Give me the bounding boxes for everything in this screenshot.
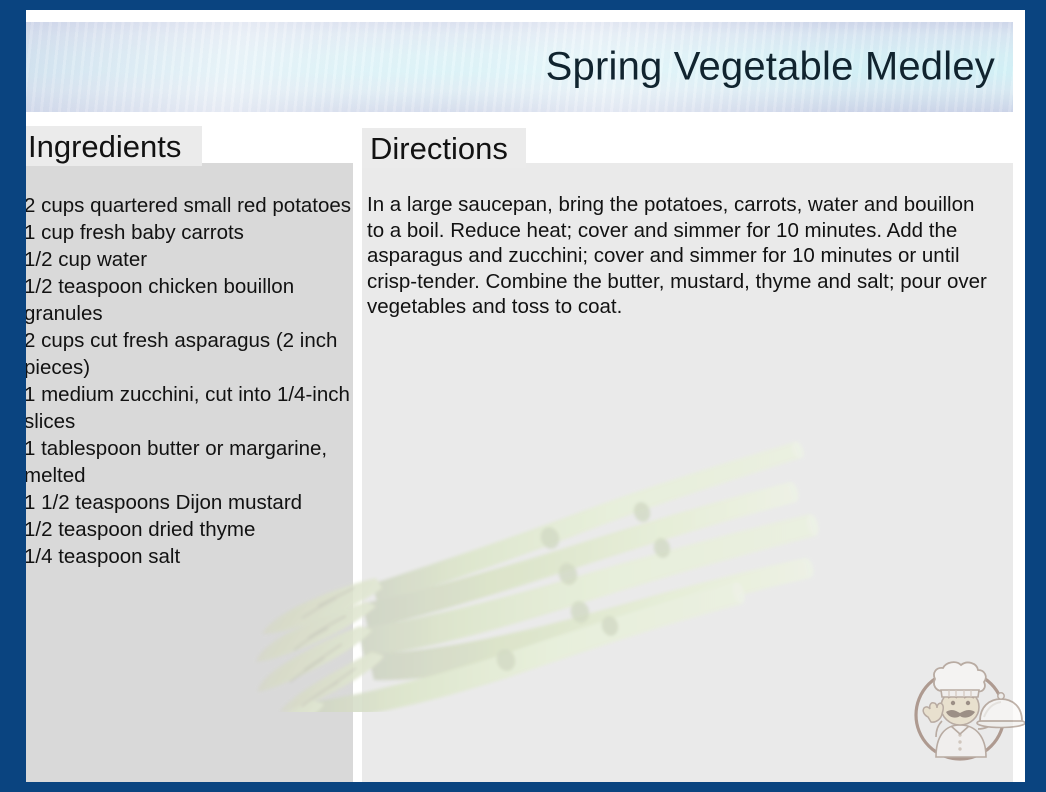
list-item: 2 cups quartered small red potatoes bbox=[24, 192, 356, 219]
directions-section-header: Directions bbox=[362, 128, 526, 168]
ingredients-heading-label: Ingredients bbox=[28, 131, 181, 162]
list-item: 1/4 teaspoon salt bbox=[24, 543, 356, 570]
directions-text: In a large saucepan, bring the potatoes,… bbox=[367, 192, 990, 320]
recipe-card: Spring Vegetable Medley Ingredients Dire… bbox=[0, 0, 1046, 792]
frame-border-top bbox=[0, 0, 1046, 10]
frame-border-bottom bbox=[0, 782, 1046, 792]
directions-heading-label: Directions bbox=[370, 133, 508, 164]
page-title: Spring Vegetable Medley bbox=[546, 45, 995, 90]
list-item: 1 1/2 teaspoons Dijon mustard bbox=[24, 489, 356, 516]
title-banner: Spring Vegetable Medley bbox=[22, 22, 1013, 112]
list-item: 1 tablespoon butter or margarine, melted bbox=[24, 435, 356, 489]
ingredients-section-header: Ingredients bbox=[22, 126, 202, 166]
list-item: 1/2 teaspoon dried thyme bbox=[24, 516, 356, 543]
list-item: 1/2 teaspoon chicken bouillon granules bbox=[24, 273, 356, 327]
ingredients-list: 2 cups quartered small red potatoes 1 cu… bbox=[24, 192, 356, 570]
frame-border-right bbox=[1025, 0, 1046, 792]
list-item: 1/2 cup water bbox=[24, 246, 356, 273]
list-item: 1 cup fresh baby carrots bbox=[24, 219, 356, 246]
list-item: 2 cups cut fresh asparagus (2 inch piece… bbox=[24, 327, 356, 381]
frame-border-left bbox=[0, 0, 26, 792]
list-item: 1 medium zucchini, cut into 1/4-inch sli… bbox=[24, 381, 356, 435]
